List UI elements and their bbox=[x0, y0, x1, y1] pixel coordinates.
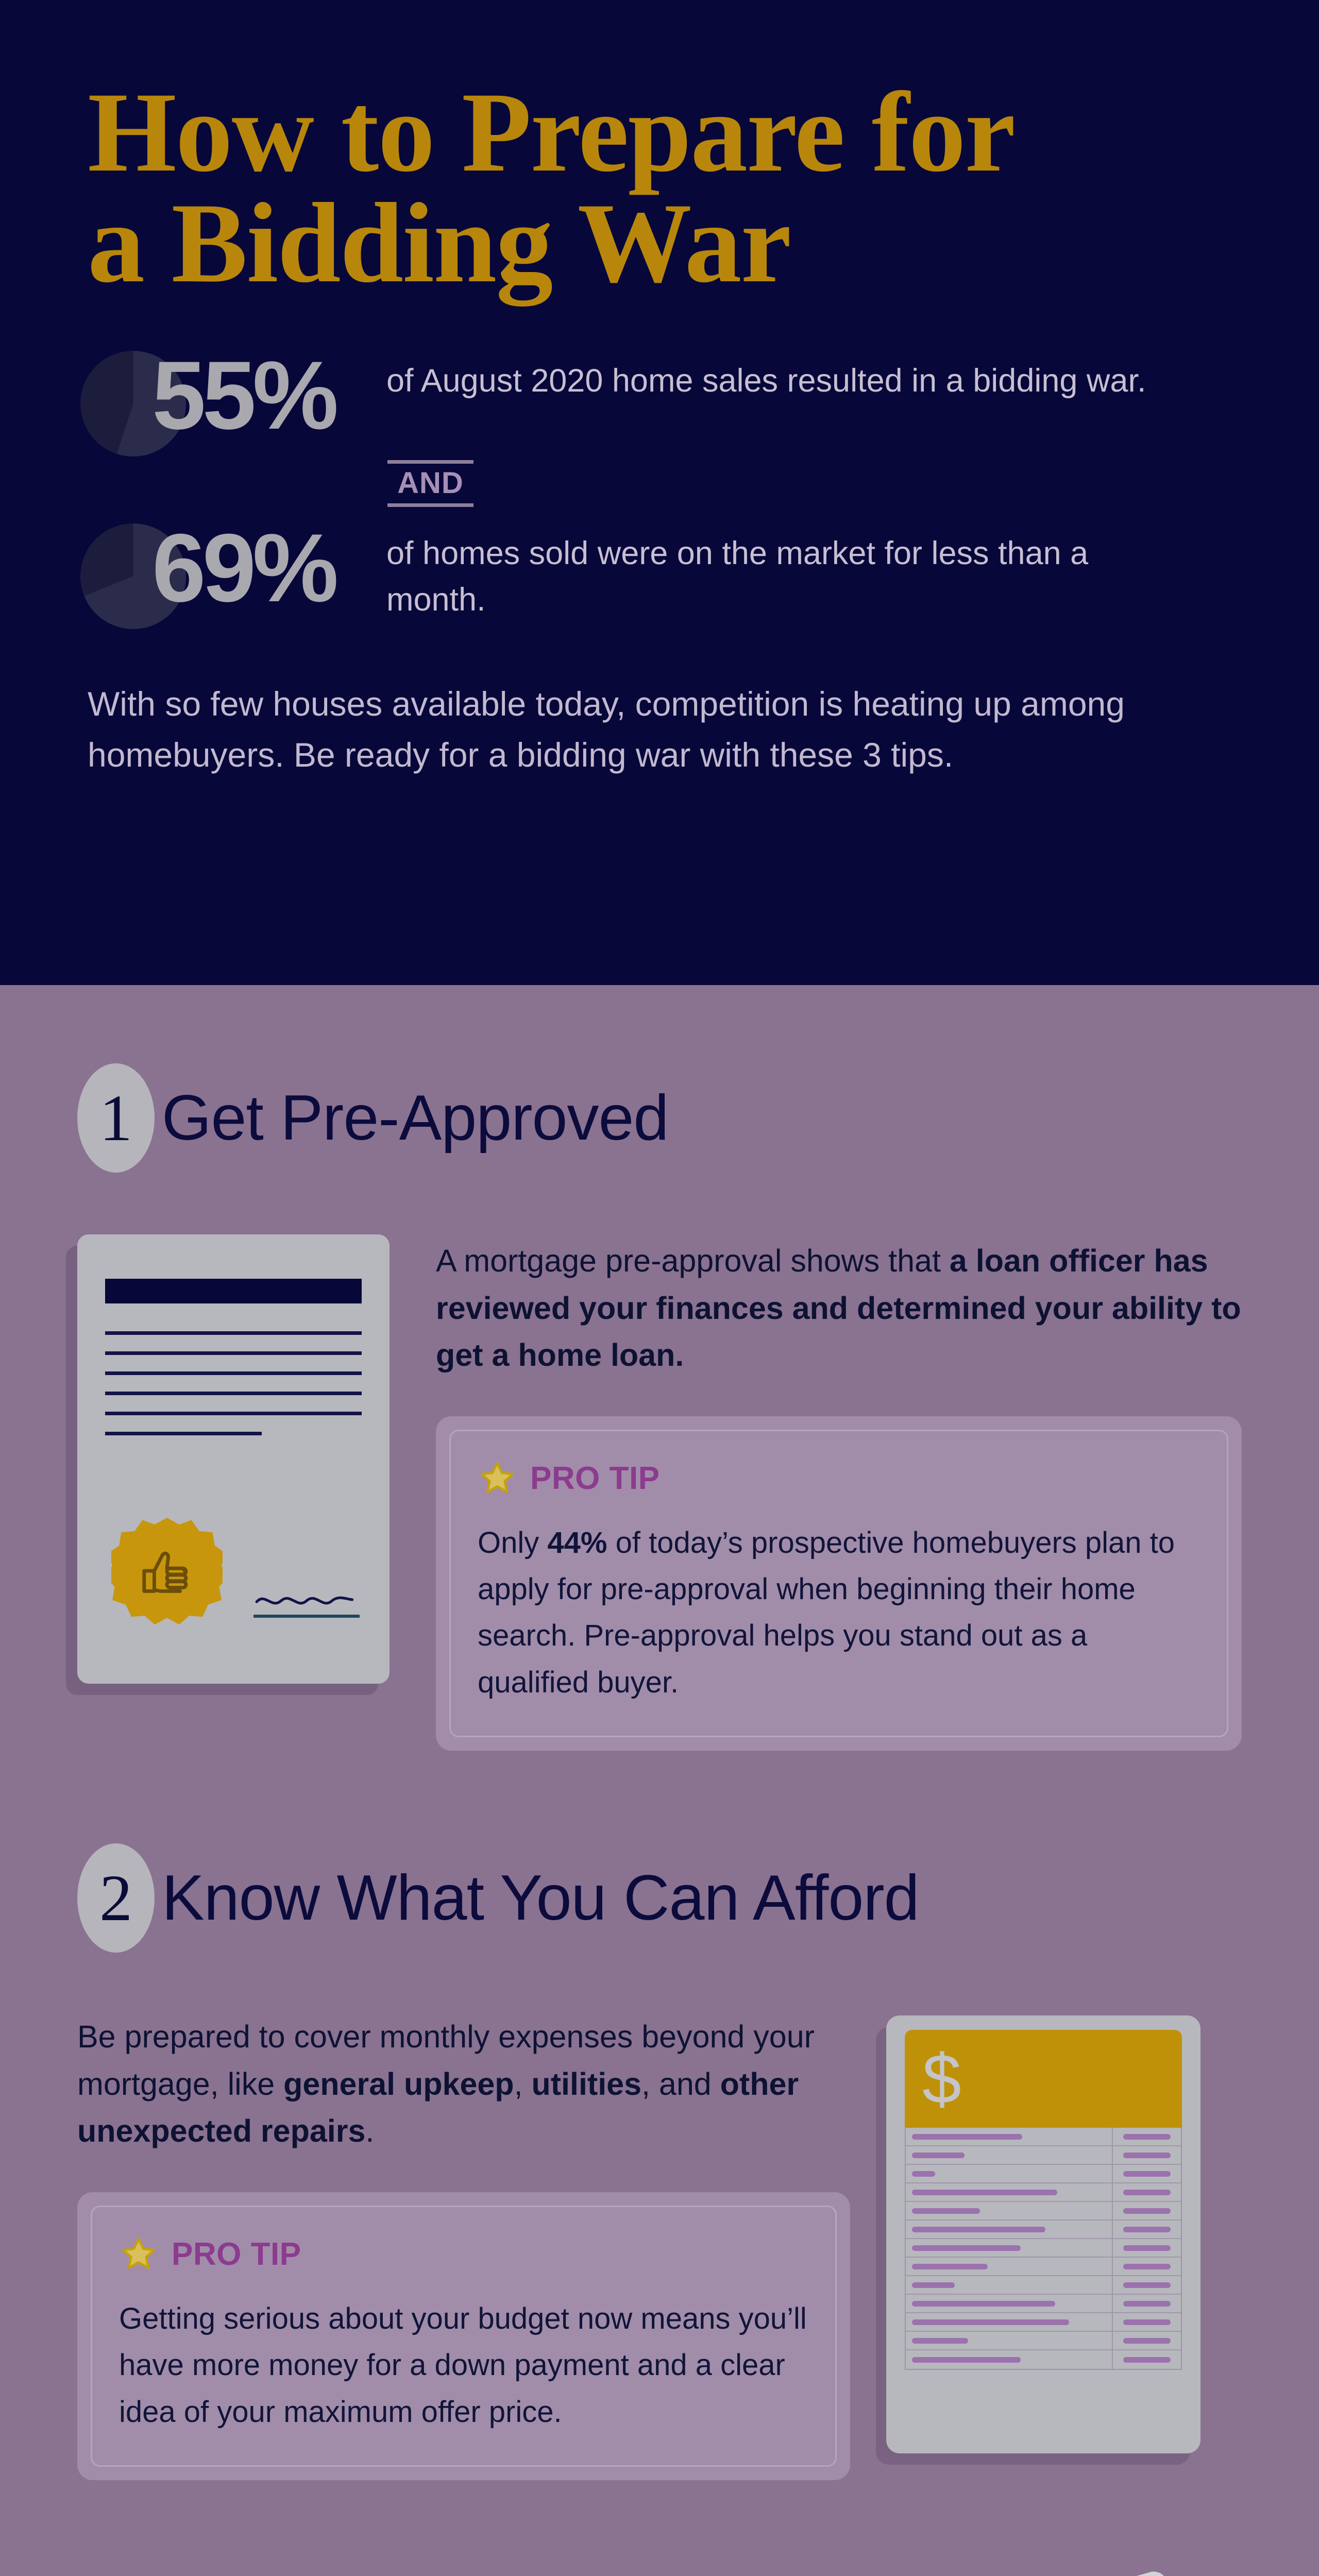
bill-row bbox=[906, 2276, 1181, 2295]
budget-bill-illustration: $ bbox=[886, 2015, 1200, 2453]
and-divider: AND bbox=[88, 460, 1231, 507]
and-rule-top bbox=[387, 460, 474, 464]
stat-text-69: of homes sold were on the market for les… bbox=[386, 519, 1175, 623]
document-line bbox=[105, 1371, 362, 1375]
bidding-war-scene-illustration bbox=[515, 2555, 1319, 2576]
step-1-number: 1 bbox=[99, 1085, 132, 1151]
title-line-2: a Bidding War bbox=[88, 188, 1231, 299]
bill-row bbox=[906, 2350, 1181, 2369]
step-1-badge: 1 bbox=[77, 1063, 155, 1173]
step-1: 1 Get Pre-Approved bbox=[77, 1063, 1242, 1751]
stat-value-69: 69% bbox=[88, 519, 386, 616]
intro-paragraph: With so few houses available today, comp… bbox=[88, 679, 1211, 781]
document-line bbox=[105, 1432, 262, 1435]
step-1-protip-text: Only 44% of today’s prospective homebuye… bbox=[478, 1520, 1200, 1706]
step-1-lead: A mortgage pre-approval shows that a loa… bbox=[436, 1238, 1242, 1379]
step-2-lead-mid-2: , and bbox=[641, 2066, 720, 2102]
thumbs-up-seal-icon bbox=[111, 1518, 223, 1629]
step-2-protip-text: Getting serious about your budget now me… bbox=[119, 2296, 808, 2435]
signature-rule bbox=[253, 1615, 360, 1618]
bill-row bbox=[906, 2221, 1181, 2239]
star-icon bbox=[478, 1459, 517, 1498]
page-title: How to Prepare for a Bidding War bbox=[88, 77, 1231, 299]
step-1-lead-plain: A mortgage pre-approval shows that bbox=[436, 1243, 950, 1278]
step-2-protip-card: PRO TIP Getting serious about your budge… bbox=[77, 2192, 850, 2480]
document-title-bar bbox=[105, 1279, 362, 1303]
step-2-badge: 2 bbox=[77, 1843, 155, 1953]
header-section: How to Prepare for a Bidding War 55% of … bbox=[0, 0, 1319, 985]
step-1-protip-label: PRO TIP bbox=[530, 1460, 660, 1497]
step-1-title: Get Pre-Approved bbox=[162, 1081, 668, 1155]
signature-icon bbox=[253, 1590, 360, 1618]
step-2-header: 2 Know What You Can Afford bbox=[77, 1843, 1242, 1953]
bill-row bbox=[906, 2183, 1181, 2202]
bill-row bbox=[906, 2202, 1181, 2221]
protip-stat-44: 44% bbox=[547, 1526, 607, 1560]
infographic-page: How to Prepare for a Bidding War 55% of … bbox=[0, 0, 1319, 2576]
step-2-number: 2 bbox=[99, 1865, 132, 1931]
bill-row bbox=[906, 2239, 1181, 2258]
dollar-sign-glyph: $ bbox=[922, 2044, 961, 2114]
step-2-lead: Be prepared to cover monthly expenses be… bbox=[77, 2013, 850, 2155]
bill-row bbox=[906, 2146, 1181, 2165]
bill-row bbox=[906, 2295, 1181, 2313]
step-2-title: Know What You Can Afford bbox=[162, 1861, 919, 1935]
preapproval-document-illustration bbox=[77, 1234, 390, 1684]
step-2-lead-mid-1: , bbox=[514, 2066, 532, 2102]
hand-holding-offer-top-right bbox=[1014, 2569, 1298, 2576]
bill-row bbox=[906, 2128, 1181, 2146]
title-line-1: How to Prepare for bbox=[88, 69, 1014, 196]
protip-text-a: Only bbox=[478, 1526, 547, 1560]
bill-row bbox=[906, 2165, 1181, 2183]
steps-section: 1 Get Pre-Approved bbox=[0, 985, 1319, 2576]
document-line bbox=[105, 1392, 362, 1395]
stat-row-69: 69% of homes sold were on the market for… bbox=[88, 519, 1231, 623]
stat-row-55: 55% of August 2020 home sales resulted i… bbox=[88, 347, 1231, 444]
step-1-protip-card: PRO TIP Only 44% of today’s prospective … bbox=[436, 1416, 1242, 1751]
star-icon bbox=[119, 2235, 158, 2274]
step-2: 2 Know What You Can Afford Be prepared t… bbox=[77, 1843, 1242, 2480]
bill-row bbox=[906, 2332, 1181, 2350]
step-2-lead-end: . bbox=[365, 2113, 374, 2148]
document-line bbox=[105, 1351, 362, 1355]
step-2-protip-label: PRO TIP bbox=[172, 2236, 301, 2273]
bill-row bbox=[906, 2258, 1181, 2276]
bill-line-items bbox=[905, 2128, 1182, 2370]
document-line bbox=[105, 1331, 362, 1335]
document-line bbox=[105, 1412, 362, 1415]
and-label: AND bbox=[387, 464, 474, 504]
and-rule-bottom bbox=[387, 503, 474, 507]
step-2-lead-bold-1: general upkeep bbox=[283, 2066, 514, 2102]
step-1-header: 1 Get Pre-Approved bbox=[77, 1063, 1242, 1173]
step-2-lead-bold-2: utilities bbox=[531, 2066, 641, 2102]
stat-value-55: 55% bbox=[88, 347, 386, 444]
stat-text-55: of August 2020 home sales resulted in a … bbox=[386, 347, 1146, 404]
bill-header-band: $ bbox=[905, 2030, 1182, 2128]
bill-row bbox=[906, 2313, 1181, 2332]
